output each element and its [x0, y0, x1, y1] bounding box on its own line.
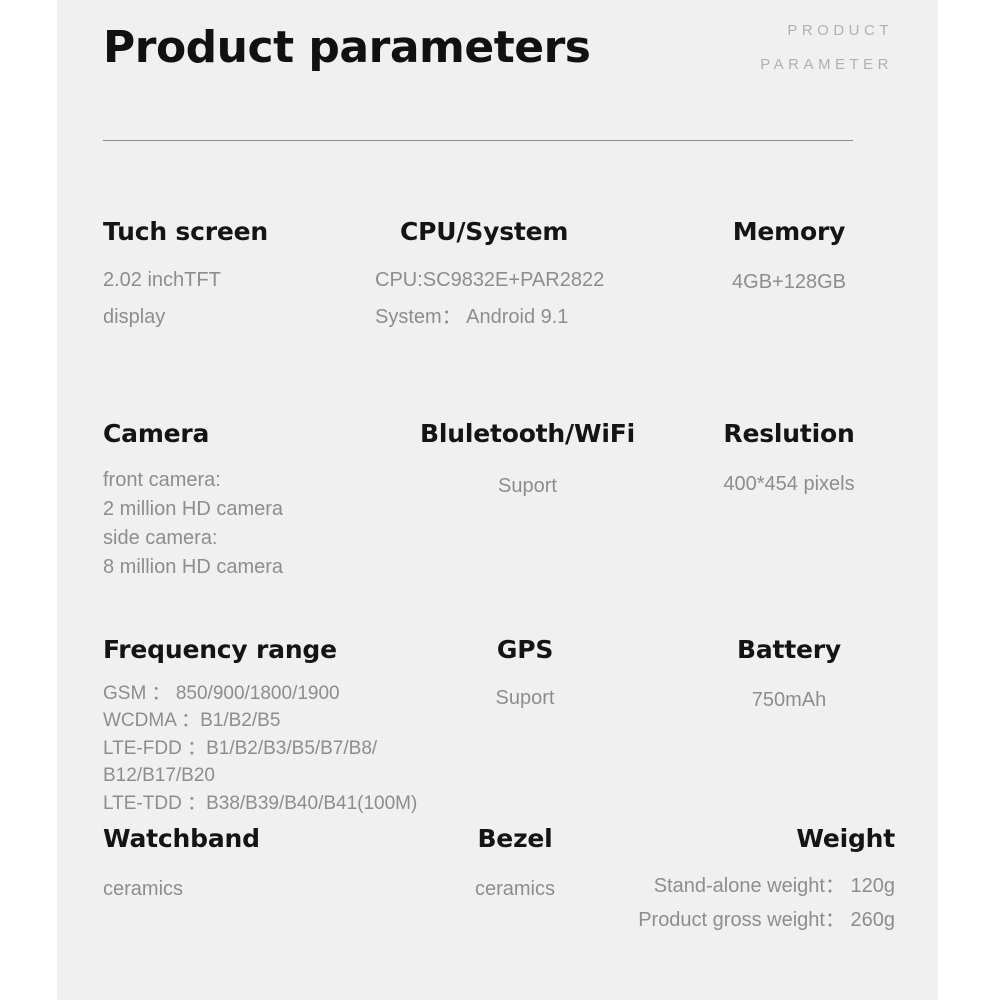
spec-value-line: 2 million HD camera — [103, 495, 383, 524]
spec-heading: Weight — [603, 825, 895, 853]
spec-value: CPU:SC9832E+PAR2822 System： Android 9.1 — [375, 262, 675, 336]
spec-value-line: Suport — [380, 468, 675, 505]
spec-value: Suport — [380, 468, 675, 505]
spec-value-line: 750mAh — [683, 682, 895, 719]
page-subtitle-line2: PARAMETER — [573, 48, 893, 82]
spec-value-line: System： Android 9.1 — [375, 299, 675, 336]
spec-value: 2.02 inchTFT display — [103, 262, 383, 336]
spec-cell-frequency-range: Frequency range GSM ： 850/900/1800/1900 … — [103, 636, 383, 817]
spec-heading: GPS — [375, 636, 675, 664]
header-divider — [103, 140, 853, 141]
spec-cell-tuch-screen: Tuch screen 2.02 inchTFT display — [103, 218, 383, 336]
page-subtitle-line1: PRODUCT — [573, 14, 893, 48]
spec-value-line: 8 million HD camera — [103, 553, 383, 582]
spec-value: front camera: 2 million HD camera side c… — [103, 466, 383, 582]
spec-value: GSM ： 850/900/1800/1900 WCDMA ：B1/B2/B5 … — [103, 680, 383, 818]
spec-value-line: LTE-TDD ：B38/B39/B40/B41(100M) — [103, 790, 383, 818]
spec-value-line: LTE-FDD ：B1/B2/B3/B5/B7/B8/ — [103, 735, 383, 763]
spec-value-line: front camera: — [103, 466, 383, 495]
spec-cell-watchband: Watchband ceramics — [103, 825, 383, 908]
spec-value-line: 2.02 inchTFT — [103, 262, 383, 299]
spec-cell-camera: Camera front camera: 2 million HD camera… — [103, 420, 383, 582]
spec-heading: Watchband — [103, 825, 383, 853]
spec-value-line: 4GB+128GB — [683, 264, 895, 301]
spec-value-line: B12/B17/B20 — [103, 762, 383, 790]
spec-cell-gps: GPS Suport — [375, 636, 675, 717]
spec-cell-weight: Weight Stand-alone weight： 120g Product … — [603, 825, 895, 937]
spec-heading: Battery — [683, 636, 895, 664]
spec-value: Suport — [375, 680, 675, 717]
spec-cell-memory: Memory 4GB+128GB — [683, 218, 895, 301]
spec-value-line: display — [103, 299, 383, 336]
spec-heading: Tuch screen — [103, 218, 383, 246]
page-header: Product parameters PRODUCT PARAMETER — [103, 14, 893, 114]
spec-heading: Memory — [683, 218, 895, 246]
spec-heading: Camera — [103, 420, 383, 448]
spec-value: 4GB+128GB — [683, 264, 895, 301]
spec-value-line: ceramics — [103, 871, 383, 908]
spec-value-line: Suport — [375, 680, 675, 717]
spec-value-line: WCDMA ：B1/B2/B5 — [103, 707, 383, 735]
page-subtitle: PRODUCT PARAMETER — [573, 14, 893, 82]
spec-value: 400*454 pixels — [683, 466, 895, 503]
spec-value-line: Stand-alone weight： 120g — [603, 869, 895, 903]
spec-value-line: side camera: — [103, 524, 383, 553]
spec-value-line: CPU:SC9832E+PAR2822 — [375, 262, 675, 299]
product-parameters-page: Product parameters PRODUCT PARAMETER Tuc… — [0, 0, 1000, 1000]
spec-value-line: GSM ： 850/900/1800/1900 — [103, 680, 383, 708]
spec-value: Stand-alone weight： 120g Product gross w… — [603, 869, 895, 937]
spec-cell-battery: Battery 750mAh — [683, 636, 895, 719]
spec-cell-bluetooth-wifi: Bluletooth/WiFi Suport — [375, 420, 675, 505]
spec-cell-resolution: Reslution 400*454 pixels — [683, 420, 895, 503]
spec-cell-cpu-system: CPU/System CPU:SC9832E+PAR2822 System： A… — [375, 218, 675, 336]
spec-value: 750mAh — [683, 682, 895, 719]
spec-heading: Frequency range — [103, 636, 383, 664]
spec-value: ceramics — [103, 871, 383, 908]
spec-value-line: 400*454 pixels — [683, 466, 895, 503]
spec-heading: Bluletooth/WiFi — [380, 420, 675, 448]
spec-value-line: Product gross weight： 260g — [603, 903, 895, 937]
page-title: Product parameters — [103, 26, 590, 70]
spec-heading: CPU/System — [400, 218, 675, 246]
spec-heading: Reslution — [683, 420, 895, 448]
